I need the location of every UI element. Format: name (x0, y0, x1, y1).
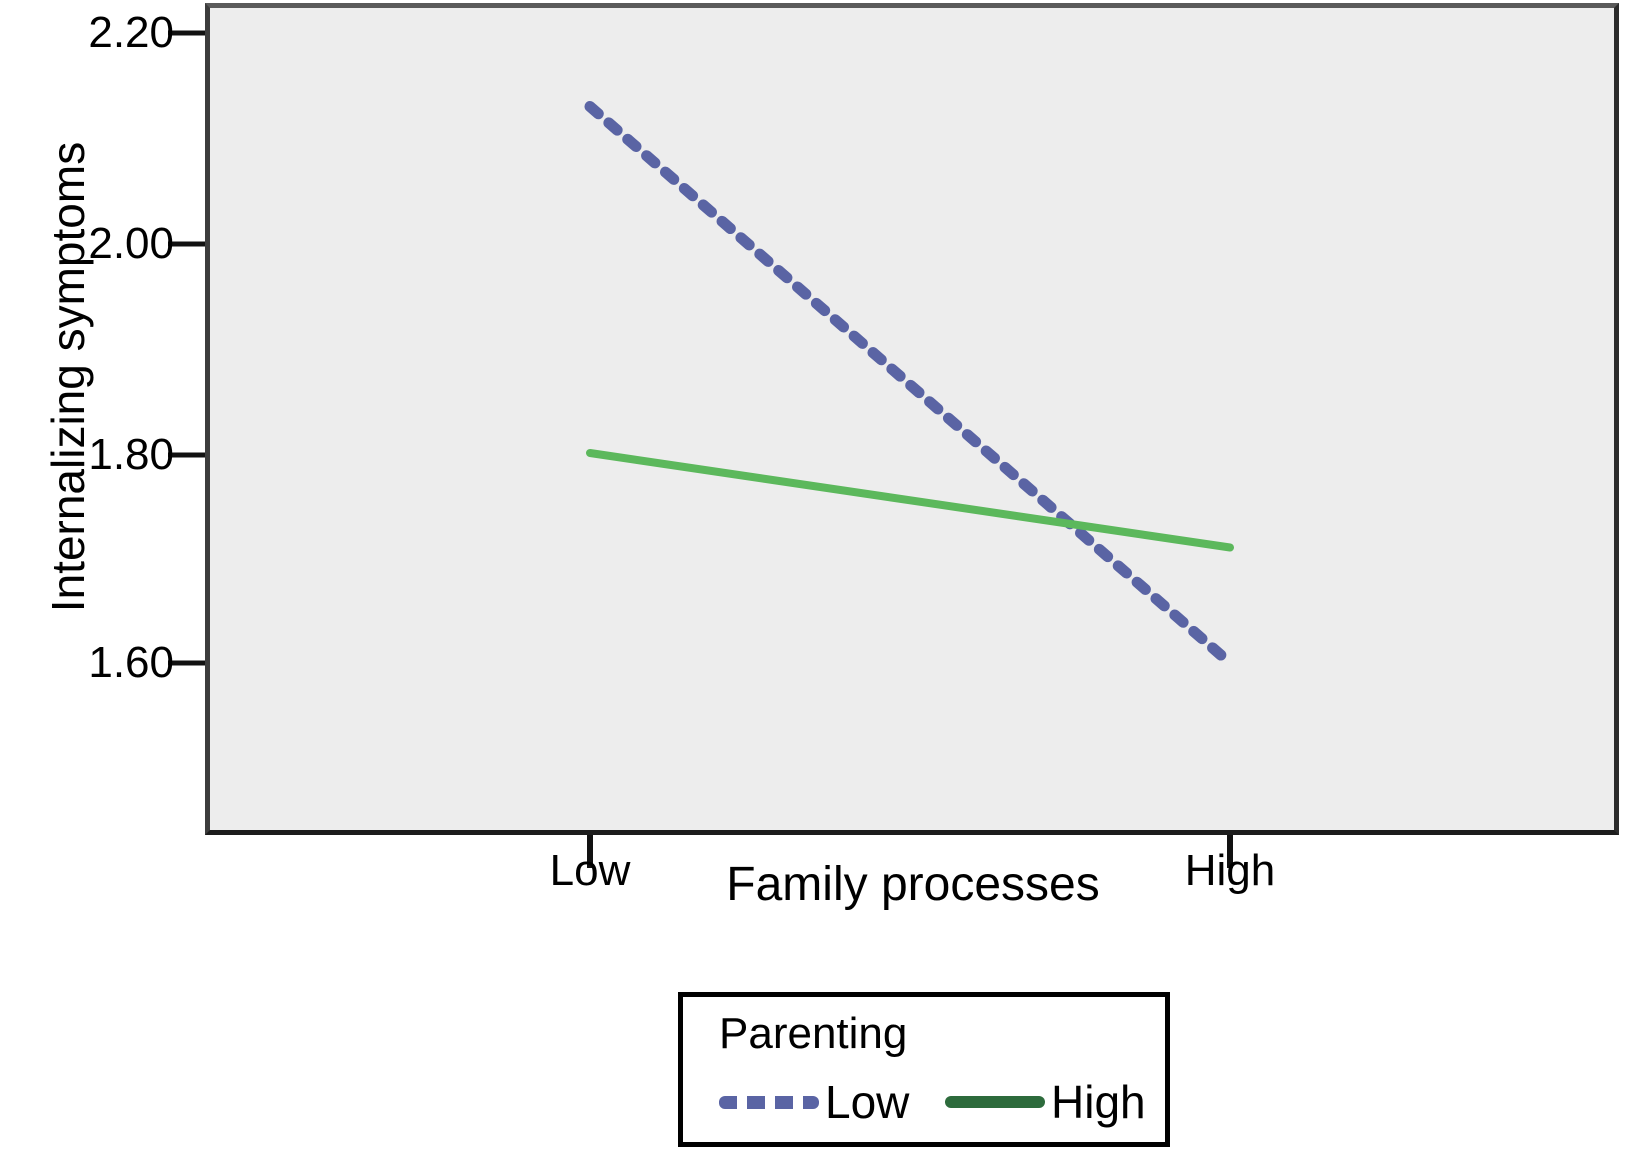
y-axis-title: Internalizing symptoms (43, 77, 93, 677)
legend-entry-low: Low (719, 1072, 909, 1132)
x-axis-title: Family processes (513, 858, 1313, 912)
y-tick-label-2-00: 2.00 (88, 222, 174, 266)
y-axis-ticks (168, 33, 205, 663)
legend-label-high: High (1051, 1077, 1146, 1127)
legend-entry-high: High (945, 1072, 1146, 1132)
legend-label-low: Low (825, 1077, 909, 1127)
y-tick-label-1-80: 1.80 (88, 433, 174, 477)
legend-title: Parenting (719, 1010, 907, 1058)
y-tick-label-2-20: 2.20 (88, 11, 174, 55)
y-tick-label-1-60: 1.60 (88, 641, 174, 685)
chart-figure: 2.20 2.00 1.80 1.60 Internalizing sympto… (0, 0, 1626, 1155)
plot-area (205, 3, 1619, 835)
legend: Parenting Low High (678, 992, 1170, 1147)
solid-line-swatch-green (945, 1096, 1045, 1108)
dashed-line-swatch-blue (719, 1096, 819, 1109)
